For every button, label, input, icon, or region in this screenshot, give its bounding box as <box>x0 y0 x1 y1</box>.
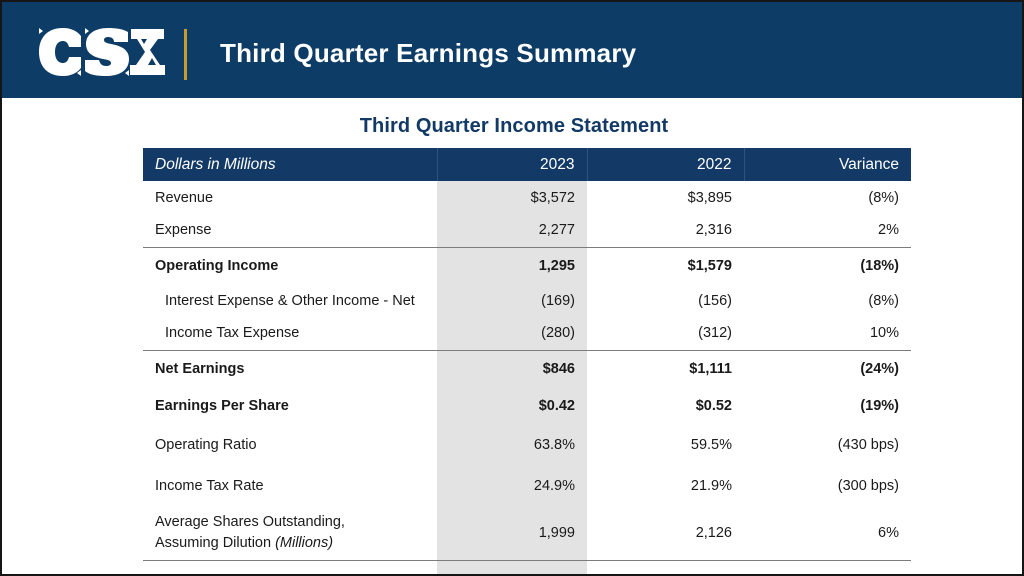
table-row: Average Shares Outstanding, Assuming Dil… <box>143 506 911 560</box>
row-label: Interest Expense & Other Income - Net <box>143 284 437 317</box>
cell-2023: $3,572 <box>437 181 587 214</box>
cell-2023: 63.8% <box>437 424 587 465</box>
slide-canvas: Third Quarter Earnings Summary Third Qua… <box>0 0 1024 576</box>
cell-2022: (312) <box>587 317 744 350</box>
cell-variance: (24%) <box>744 350 911 387</box>
table-header-row: Dollars in Millions 2023 2022 Variance <box>143 148 911 181</box>
cell-variance: (8%) <box>744 181 911 214</box>
table-body: Revenue $3,572 $3,895 (8%) Expense 2,277… <box>143 181 911 560</box>
cell-2023: 1,295 <box>437 247 587 284</box>
header-band: Third Quarter Earnings Summary <box>2 2 1024 98</box>
cell-2023: 1,999 <box>437 506 587 560</box>
column-header-2023: 2023 <box>437 148 587 181</box>
csx-logo <box>38 26 166 78</box>
table-row: Income Tax Rate 24.9% 21.9% (300 bps) <box>143 465 911 506</box>
table-row: Operating Ratio 63.8% 59.5% (430 bps) <box>143 424 911 465</box>
row-label-line2-text: Assuming Dilution <box>155 535 275 551</box>
cell-2022: 2,316 <box>587 214 744 247</box>
row-label: Revenue <box>143 181 437 214</box>
row-label: Income Tax Expense <box>143 317 437 350</box>
cell-variance: 6% <box>744 506 911 560</box>
table-header: Dollars in Millions 2023 2022 Variance <box>143 148 911 181</box>
cell-variance: 10% <box>744 317 911 350</box>
cell-2022: 2,126 <box>587 506 744 560</box>
row-label: Expense <box>143 214 437 247</box>
table-row-total: Operating Income 1,295 $1,579 (18%) <box>143 247 911 284</box>
table-row-total: Earnings Per Share $0.42 $0.52 (19%) <box>143 387 911 424</box>
row-label-line2: Assuming Dilution (Millions) <box>155 533 425 554</box>
table-row: Revenue $3,572 $3,895 (8%) <box>143 181 911 214</box>
row-label-units: (Millions) <box>275 535 333 551</box>
table-row: Interest Expense & Other Income - Net (1… <box>143 284 911 317</box>
cell-2022: $1,111 <box>587 350 744 387</box>
cell-2022: $0.52 <box>587 387 744 424</box>
cell-2023: $0.42 <box>437 387 587 424</box>
cell-variance: 2% <box>744 214 911 247</box>
cell-2022: 59.5% <box>587 424 744 465</box>
cell-2023: (169) <box>437 284 587 317</box>
row-label: Operating Income <box>143 247 437 284</box>
cell-2023: 2,277 <box>437 214 587 247</box>
header-gold-divider <box>184 29 187 80</box>
table-row: Income Tax Expense (280) (312) 10% <box>143 317 911 350</box>
cell-2023: $846 <box>437 350 587 387</box>
cell-variance: (8%) <box>744 284 911 317</box>
table-row-total: Net Earnings $846 $1,111 (24%) <box>143 350 911 387</box>
cell-2022: 21.9% <box>587 465 744 506</box>
row-label: Earnings Per Share <box>143 387 437 424</box>
row-label: Average Shares Outstanding, Assuming Dil… <box>143 506 437 560</box>
row-label-line1: Average Shares Outstanding, <box>155 512 425 533</box>
row-label: Operating Ratio <box>143 424 437 465</box>
page-title: Third Quarter Earnings Summary <box>220 38 636 69</box>
cell-variance: (19%) <box>744 387 911 424</box>
column-header-2022: 2022 <box>587 148 744 181</box>
cell-variance: (18%) <box>744 247 911 284</box>
cell-2023: (280) <box>437 317 587 350</box>
row-label: Income Tax Rate <box>143 465 437 506</box>
cell-variance: (430 bps) <box>744 424 911 465</box>
table-row: Expense 2,277 2,316 2% <box>143 214 911 247</box>
cell-2022: $3,895 <box>587 181 744 214</box>
cell-2022: (156) <box>587 284 744 317</box>
cell-2022: $1,579 <box>587 247 744 284</box>
income-statement-table: Dollars in Millions 2023 2022 Variance R… <box>143 148 911 561</box>
row-label: Net Earnings <box>143 350 437 387</box>
cell-variance: (300 bps) <box>744 465 911 506</box>
column-header-label: Dollars in Millions <box>143 148 437 181</box>
income-statement-table-wrap: Dollars in Millions 2023 2022 Variance R… <box>143 148 911 561</box>
table-title: Third Quarter Income Statement <box>2 115 1024 138</box>
column-header-variance: Variance <box>744 148 911 181</box>
cell-2023: 24.9% <box>437 465 587 506</box>
